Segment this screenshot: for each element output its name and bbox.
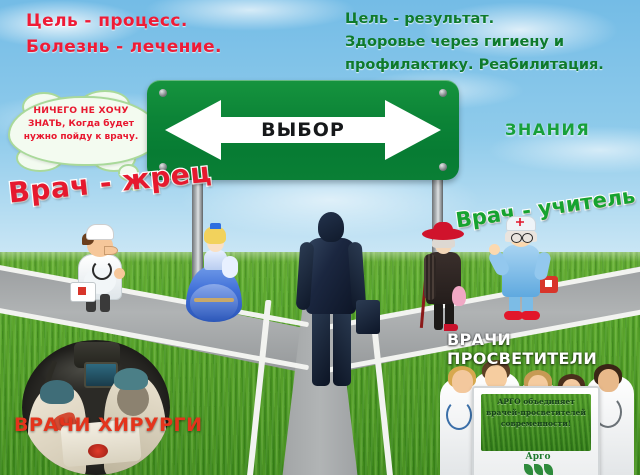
headline-right-line2: Здоровье через гигиену и [345,31,635,54]
headline-right-line3: профилактику. Реабилитация. [345,54,635,77]
lady-fur-trim [424,254,436,300]
man-head [318,212,344,242]
headline-right-line1: Цель - результат. [345,8,635,31]
surgeons-label: ВРАЧИ ХИРУРГИ [14,414,203,436]
thought-line1: НИЧЕГО НЕ ХОЧУ [10,104,152,118]
placard-line2: врачей-просветителей [482,407,590,418]
stethoscope-icon [92,260,112,280]
argo-placard: АРГО объединяет врачей-просветителей сов… [472,386,600,475]
nurse-glasses-icon [511,233,522,243]
thought-bubble-text: НИЧЕГО НЕ ХОЧУ ЗНАТЬ, Когда будет нужно … [10,104,152,145]
elderly-lady-figure [420,226,466,334]
doctor-leg [100,294,110,312]
nurse-cap [506,216,536,231]
surgery-photo [22,340,170,475]
princess-gown-highlight [190,284,238,322]
argo-leaves-icon [520,462,556,475]
doctor-face [104,246,118,255]
placard-text: АРГО объединяет врачей-просветителей сов… [482,396,590,429]
cartoon-nurse-figure [492,216,550,324]
lady-boot [434,302,443,330]
nurse-bag-cross [545,280,552,287]
princess-figure [186,226,242,326]
thought-line3: нужно пойду к врачу. [10,131,152,145]
headline-left-line2: Болезнь - лечение. [26,34,316,60]
headline-left-line1: Цель - процесс. [26,8,316,34]
man-leg [333,308,351,386]
surgical-cap [40,380,74,404]
knowledge-label: ЗНАНИЯ [505,120,590,139]
placard-line3: современности! [482,418,590,429]
nurse-shoe [521,311,540,320]
nurse-hand [489,244,500,255]
lady-handbag [452,286,466,306]
lady-red-hat-crown [433,222,453,234]
doctor-hand [114,268,125,279]
argo-logo-word: Арго [520,452,556,462]
princess-sleeve [222,256,238,278]
princess-gown-trim [194,298,234,302]
doctor-face [452,370,473,393]
placard-line1: АРГО объединяет [482,396,590,407]
surgical-cap [114,368,148,390]
man-leg [312,308,330,386]
thought-line2: ЗНАТЬ, Когда будет [10,118,152,132]
briefcase-icon [356,300,380,334]
headline-left: Цель - процесс. Болезнь - лечение. [26,8,316,60]
doctor-face [598,369,619,392]
headline-right: Цель - результат. Здоровье через гигиену… [345,8,635,77]
educators-label: ВРАЧИ ПРОСВЕТИТЕЛИ [447,330,640,368]
businessman-figure [296,212,366,388]
nurse-glasses-icon [522,233,533,243]
doctor-cap [86,224,114,240]
argo-logo: Арго [520,452,556,475]
cartoon-doctor-figure [70,224,130,314]
princess-tiara-icon [210,223,221,229]
stethoscope-icon [446,400,472,430]
medical-bag-cross [78,287,86,295]
surgical-field [88,444,108,458]
poster-canvas: Цель - процесс. Болезнь - лечение. Цель … [0,0,640,475]
